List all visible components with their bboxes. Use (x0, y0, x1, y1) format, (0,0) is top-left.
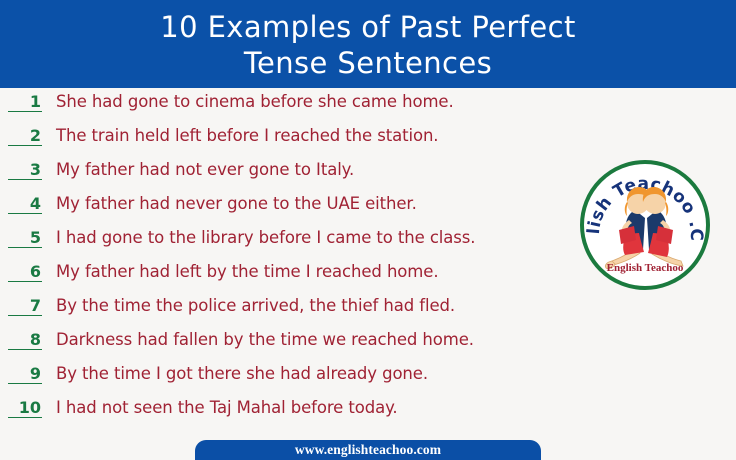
list-item: 3 My father had not ever gone to Italy. (0, 160, 600, 194)
infographic-page: 10 Examples of Past Perfect Tense Senten… (0, 0, 736, 460)
list-item-number: 5 (8, 228, 42, 248)
list-item-text: The train held left before I reached the… (56, 126, 438, 146)
list-item: 7 By the time the police arrived, the th… (0, 296, 600, 330)
sentence-list: 1 She had gone to cinema before she came… (0, 92, 600, 432)
list-item: 1 She had gone to cinema before she came… (0, 92, 600, 126)
list-item-number: 10 (8, 398, 42, 418)
list-item-number: 9 (8, 364, 42, 384)
page-title-line-2: Tense Sentences (244, 45, 492, 81)
list-item-text: I had not seen the Taj Mahal before toda… (56, 398, 398, 418)
english-teachoo-logo-icon: English Teachoo .Com (578, 158, 712, 292)
logo-caption: English Teachoo (607, 262, 684, 274)
footer-url-text: www.englishteachoo.com (295, 442, 441, 458)
list-item-text: My father had never gone to the UAE eith… (56, 194, 417, 214)
page-title-line-1: 10 Examples of Past Perfect (160, 9, 575, 45)
list-item-text: She had gone to cinema before she came h… (56, 92, 454, 112)
list-item-number: 1 (8, 92, 42, 112)
list-item-number: 2 (8, 126, 42, 146)
list-item: 5 I had gone to the library before I cam… (0, 228, 600, 262)
list-item: 9 By the time I got there she had alread… (0, 364, 600, 398)
list-item-number: 3 (8, 160, 42, 180)
list-item-text: Darkness had fallen by the time we reach… (56, 330, 474, 350)
list-item-text: By the time the police arrived, the thie… (56, 296, 455, 316)
list-item: 4 My father had never gone to the UAE ei… (0, 194, 600, 228)
list-item-text: I had gone to the library before I came … (56, 228, 475, 248)
footer-url-pill[interactable]: www.englishteachoo.com (195, 440, 541, 460)
list-item-number: 6 (8, 262, 42, 282)
list-item-number: 4 (8, 194, 42, 214)
list-item-number: 7 (8, 296, 42, 316)
list-item-text: My father had left by the time I reached… (56, 262, 438, 282)
header-banner: 10 Examples of Past Perfect Tense Senten… (0, 0, 736, 88)
list-item: 8 Darkness had fallen by the time we rea… (0, 330, 600, 364)
list-item: 6 My father had left by the time I reach… (0, 262, 600, 296)
list-item-text: My father had not ever gone to Italy. (56, 160, 354, 180)
list-item: 2 The train held left before I reached t… (0, 126, 600, 160)
list-item: 10 I had not seen the Taj Mahal before t… (0, 398, 600, 432)
list-item-text: By the time I got there she had already … (56, 364, 428, 384)
list-item-number: 8 (8, 330, 42, 350)
